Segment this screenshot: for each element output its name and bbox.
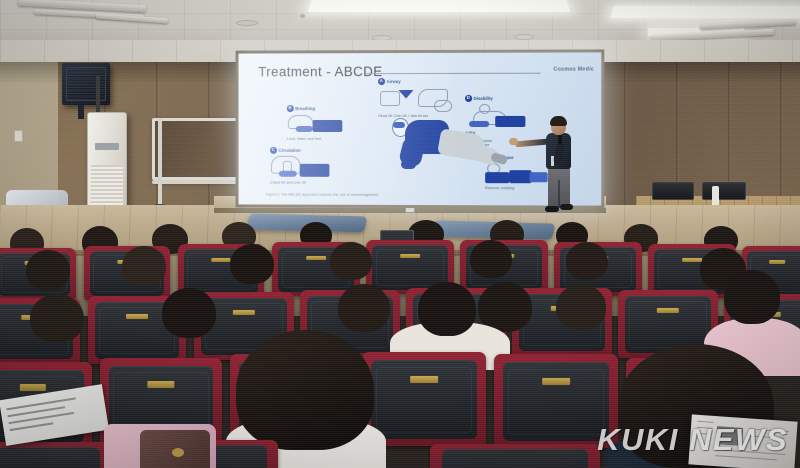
attendee-head bbox=[566, 242, 608, 280]
presenter-shoe bbox=[560, 204, 573, 210]
news-watermark: KUKI NEWS bbox=[597, 422, 788, 458]
circulation-illustration bbox=[270, 155, 331, 179]
slide-title: Treatment - ABCDE bbox=[258, 64, 382, 79]
attendee-head bbox=[418, 282, 476, 336]
slide-title-rule bbox=[365, 73, 540, 74]
slide-step-breathing: B Breathing Look, listen and feel bbox=[287, 105, 346, 140]
attendee-head bbox=[162, 288, 216, 338]
bag-clasp bbox=[172, 448, 184, 457]
light-switch[interactable] bbox=[14, 130, 23, 142]
control-room-monitor bbox=[702, 182, 746, 200]
step-name-airway: Airway bbox=[387, 79, 401, 84]
breathing-illustration bbox=[287, 114, 346, 136]
attendee-head bbox=[338, 284, 390, 332]
step-name-disability: Disability bbox=[474, 96, 493, 101]
ac-pipe bbox=[96, 76, 100, 114]
attendee-head bbox=[230, 244, 274, 284]
attendee-head bbox=[470, 240, 512, 278]
airway-illustration bbox=[378, 86, 456, 112]
slide-step-circulation: C Circulation Chest lift and chin lift bbox=[270, 147, 331, 184]
step-letter-d: D bbox=[465, 95, 472, 102]
attendee-head bbox=[122, 246, 166, 286]
presenter bbox=[539, 118, 579, 213]
lecture-hall-photo: Treatment - ABCDE Cosmos Medic A Airway … bbox=[0, 0, 800, 468]
attendee-head bbox=[330, 242, 372, 280]
step-letter-b: B bbox=[287, 105, 293, 111]
presenter-hand bbox=[509, 138, 518, 145]
speaker-mount bbox=[78, 105, 84, 119]
attendee-head bbox=[556, 284, 606, 330]
step-letter-a: A bbox=[378, 78, 384, 85]
presenter-shoe bbox=[545, 206, 559, 212]
ceiling-panel-light bbox=[308, 0, 571, 12]
recovery-position-illustration bbox=[387, 116, 517, 178]
whiteboard-leg bbox=[158, 118, 162, 206]
step-caption-breathing: Look, listen and feel bbox=[287, 136, 346, 140]
ceiling-panel-light bbox=[610, 6, 800, 18]
seat bbox=[0, 442, 110, 468]
patient-face-shade bbox=[393, 122, 405, 128]
attendee-head bbox=[26, 250, 70, 290]
attendee-head bbox=[236, 330, 374, 450]
step-name-breathing: Breathing bbox=[295, 106, 315, 111]
slide-step-airway: A Airway Head tilt Chin lift / Jaw thrus… bbox=[378, 78, 456, 118]
presenter-hair bbox=[550, 116, 567, 126]
sprinkler-head bbox=[300, 14, 305, 18]
attendee-head bbox=[30, 294, 84, 342]
step-name-circulation: Circulation bbox=[278, 148, 300, 153]
attendee-head bbox=[724, 270, 780, 324]
wall-speaker-left bbox=[62, 63, 110, 105]
control-room-monitor bbox=[652, 182, 694, 200]
slide-brand-label: Cosmos Medic bbox=[553, 67, 594, 73]
seat bbox=[430, 444, 600, 468]
presenter-leg-split bbox=[558, 180, 560, 208]
ceiling-vent bbox=[236, 20, 258, 26]
patient-hand bbox=[401, 160, 416, 169]
slide-figure-caption: Figure 1 The ABCDE approach reduces the … bbox=[266, 193, 378, 197]
step-letter-c: C bbox=[270, 147, 276, 153]
floor-standing-air-conditioner bbox=[87, 112, 127, 220]
step-caption-circulation: Chest lift and chin lift bbox=[270, 180, 331, 184]
